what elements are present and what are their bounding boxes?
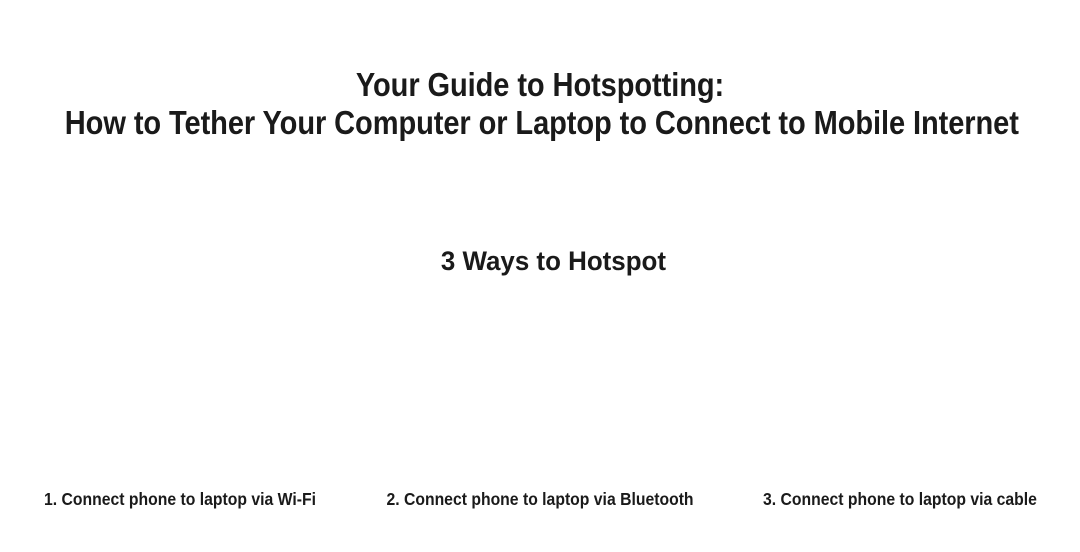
page-title-line-2: How to Tether Your Computer or Laptop to… xyxy=(65,104,1015,142)
figure-slot-2 xyxy=(360,286,720,476)
page-title: Your Guide to Hotspotting: How to Tether… xyxy=(65,66,1015,142)
figure-slot-1 xyxy=(0,286,360,476)
section-heading: 3 Ways to Hotspot xyxy=(22,244,1059,278)
page-title-line-1: Your Guide to Hotspotting: xyxy=(65,66,1015,104)
figure-row xyxy=(0,286,1080,476)
figure-caption-1: 1. Connect phone to laptop via Wi-Fi xyxy=(18,487,342,511)
article-page: Your Guide to Hotspotting: How to Tether… xyxy=(0,0,1080,552)
figure-caption-3: 3. Connect phone to laptop via cable xyxy=(738,487,1062,511)
figure-slot-3 xyxy=(720,286,1080,476)
figure-caption-row: 1. Connect phone to laptop via Wi-Fi 2. … xyxy=(0,486,1080,512)
figure-caption-2: 2. Connect phone to laptop via Bluetooth xyxy=(378,487,702,511)
